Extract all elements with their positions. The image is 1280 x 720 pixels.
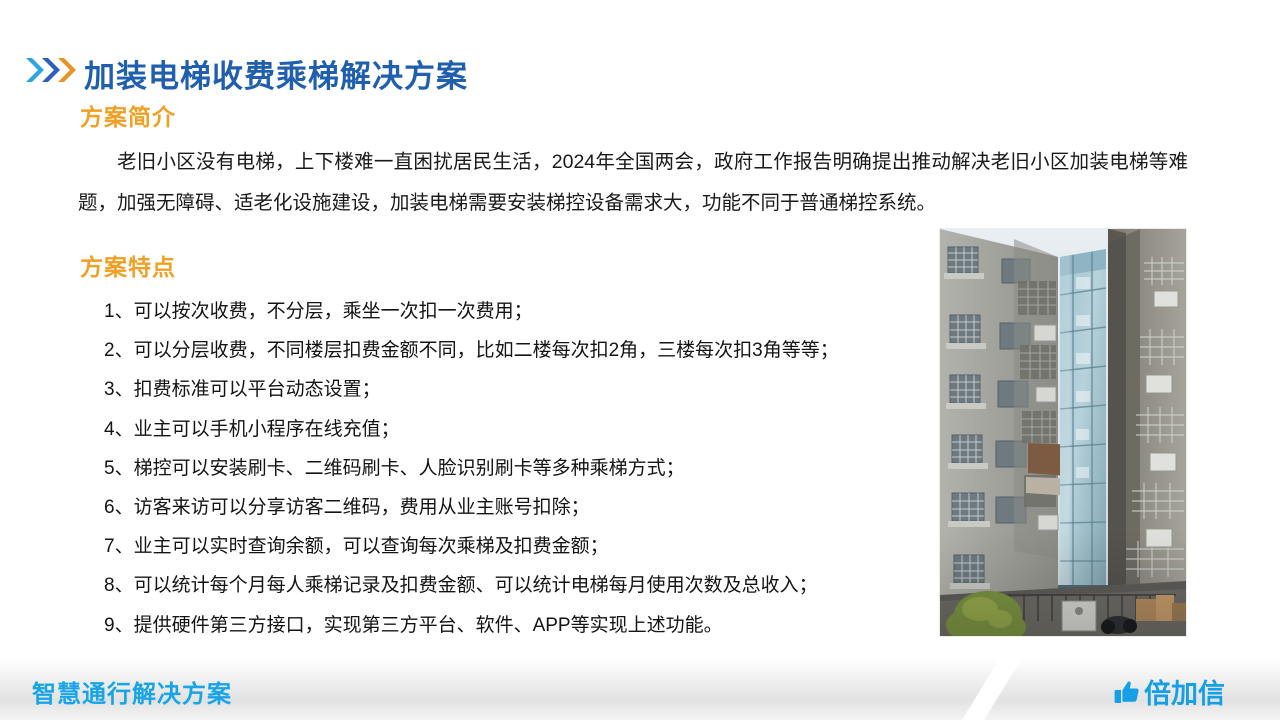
list-item: 9、提供硬件第三方接口，实现第三方平台、软件、APP等实现上述功能。 (104, 606, 944, 645)
brand-logo: 倍加信 (1113, 672, 1225, 711)
list-item: 6、访客来访可以分享访客二维码，费用从业主账号扣除； (104, 488, 944, 527)
brand-name: 倍加信 (1144, 672, 1225, 711)
list-item: 7、业主可以实时查询余额，可以查询每次乘梯及扣费金额； (104, 527, 944, 566)
intro-paragraph: 老旧小区没有电梯，上下楼难一直困扰居民生活，2024年全国两会，政府工作报告明确… (78, 142, 1188, 224)
photo-artwork (940, 229, 1186, 636)
slide-footer: 智慧通行解决方案 倍加信 (0, 658, 1280, 720)
list-item: 3、扣费标准可以平台动态设置； (104, 370, 944, 409)
list-item: 4、业主可以手机小程序在线充值； (104, 410, 944, 449)
slide-header: 加装电梯收费乘梯解决方案 (0, 22, 1280, 78)
list-item: 5、梯控可以安装刷卡、二维码刷卡、人脸识别刷卡等多种乘梯方式； (104, 449, 944, 488)
slide-root: 加装电梯收费乘梯解决方案 方案简介 老旧小区没有电梯，上下楼难一直困扰居民生活，… (0, 0, 1280, 720)
feature-list: 1、可以按次收费，不分层，乘坐一次扣一次费用； 2、可以分层收费，不同楼层扣费金… (104, 292, 944, 645)
list-item: 8、可以统计每个月每人乘梯记录及扣费金额、可以统计电梯每月使用次数及总收入； (104, 566, 944, 605)
triple-chevron-right-icon (24, 55, 78, 85)
list-item: 1、可以按次收费，不分层，乘坐一次扣一次费用； (104, 292, 944, 331)
footer-title: 智慧通行解决方案 (32, 674, 232, 709)
page-title: 加装电梯收费乘梯解决方案 (84, 51, 468, 96)
section-heading-features: 方案特点 (80, 248, 176, 282)
thumbs-up-icon (1113, 678, 1141, 706)
section-heading-intro: 方案简介 (80, 98, 176, 132)
retrofit-glass-elevator-photo (940, 229, 1186, 636)
list-item: 2、可以分层收费，不同楼层扣费金额不同，比如二楼每次扣2角，三楼每次扣3角等等； (104, 331, 944, 370)
